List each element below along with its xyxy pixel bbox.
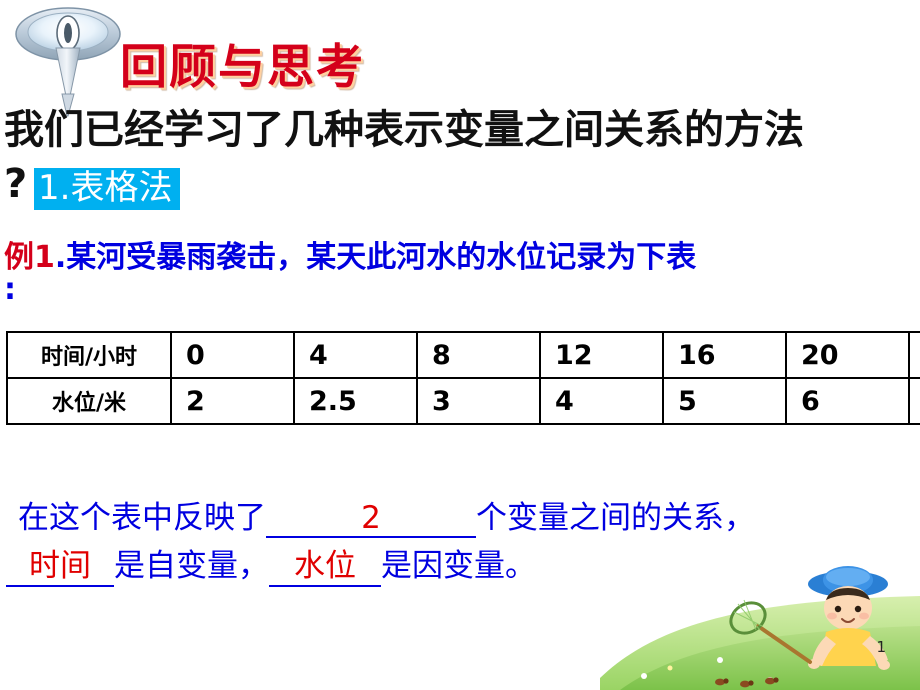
conclusion-line-2: 时间是自变量，水位是因变量。 (6, 540, 536, 587)
answer-blank-independent: 时间 (6, 540, 114, 587)
decorative-scenery (600, 560, 920, 690)
answer-blank-dependent: 水位 (269, 540, 381, 587)
page-number: 1 (876, 638, 886, 656)
conclusion-text-2: 个变量之间的关系， (476, 500, 755, 536)
row-header-level: 水位/米 (7, 378, 171, 424)
table-row: 时间/小时 0 4 8 12 16 20 24 (7, 332, 920, 378)
intro-text-line1: 我们已经学习了几种表示变量之间关系的方法 (4, 108, 920, 152)
example-line: 例1.某河受暴雨袭击，某天此河水的水位记录为下表 (4, 232, 696, 276)
cell-level-3: 4 (540, 378, 663, 424)
cell-time-2: 8 (417, 332, 540, 378)
conclusion-line-1: 在这个表中反映了2个变量之间的关系， (18, 492, 755, 538)
answer-blank-count: 2 (266, 500, 476, 538)
conclusion-text-3: 是自变量， (114, 548, 269, 584)
cell-level-5: 6 (786, 378, 909, 424)
conclusion-text-4: 是因变量。 (381, 548, 536, 584)
cell-time-1: 4 (294, 332, 417, 378)
cell-time-3: 12 (540, 332, 663, 378)
cell-level-6: 8 (909, 378, 920, 424)
water-level-table: 时间/小时 0 4 8 12 16 20 24 水位/米 2 2.5 3 4 5… (6, 331, 920, 425)
cell-level-2: 3 (417, 378, 540, 424)
cell-time-6: 24 (909, 332, 920, 378)
cell-time-0: 0 (171, 332, 294, 378)
table-row: 水位/米 2 2.5 3 4 5 6 8 (7, 378, 920, 424)
cell-time-5: 20 (786, 332, 909, 378)
intro-text-line2: ? (4, 162, 27, 206)
cell-time-4: 16 (663, 332, 786, 378)
page-title: 回顾与思考 (120, 28, 365, 97)
example-continuation: : (4, 272, 16, 307)
lamp-icon (12, 4, 132, 124)
cell-level-1: 2.5 (294, 378, 417, 424)
example-prefix: 例1 (4, 240, 55, 275)
slide-root: 回顾与思考 我们已经学习了几种表示变量之间关系的方法 ? 1.表格法 例1.某河… (0, 0, 920, 690)
cell-level-4: 5 (663, 378, 786, 424)
cell-level-0: 2 (171, 378, 294, 424)
conclusion-text-1: 在这个表中反映了 (18, 500, 266, 536)
row-header-time: 时间/小时 (7, 332, 171, 378)
example-text: .某河受暴雨袭击，某天此河水的水位记录为下表 (55, 240, 696, 275)
method-label-table: 1.表格法 (34, 168, 180, 210)
